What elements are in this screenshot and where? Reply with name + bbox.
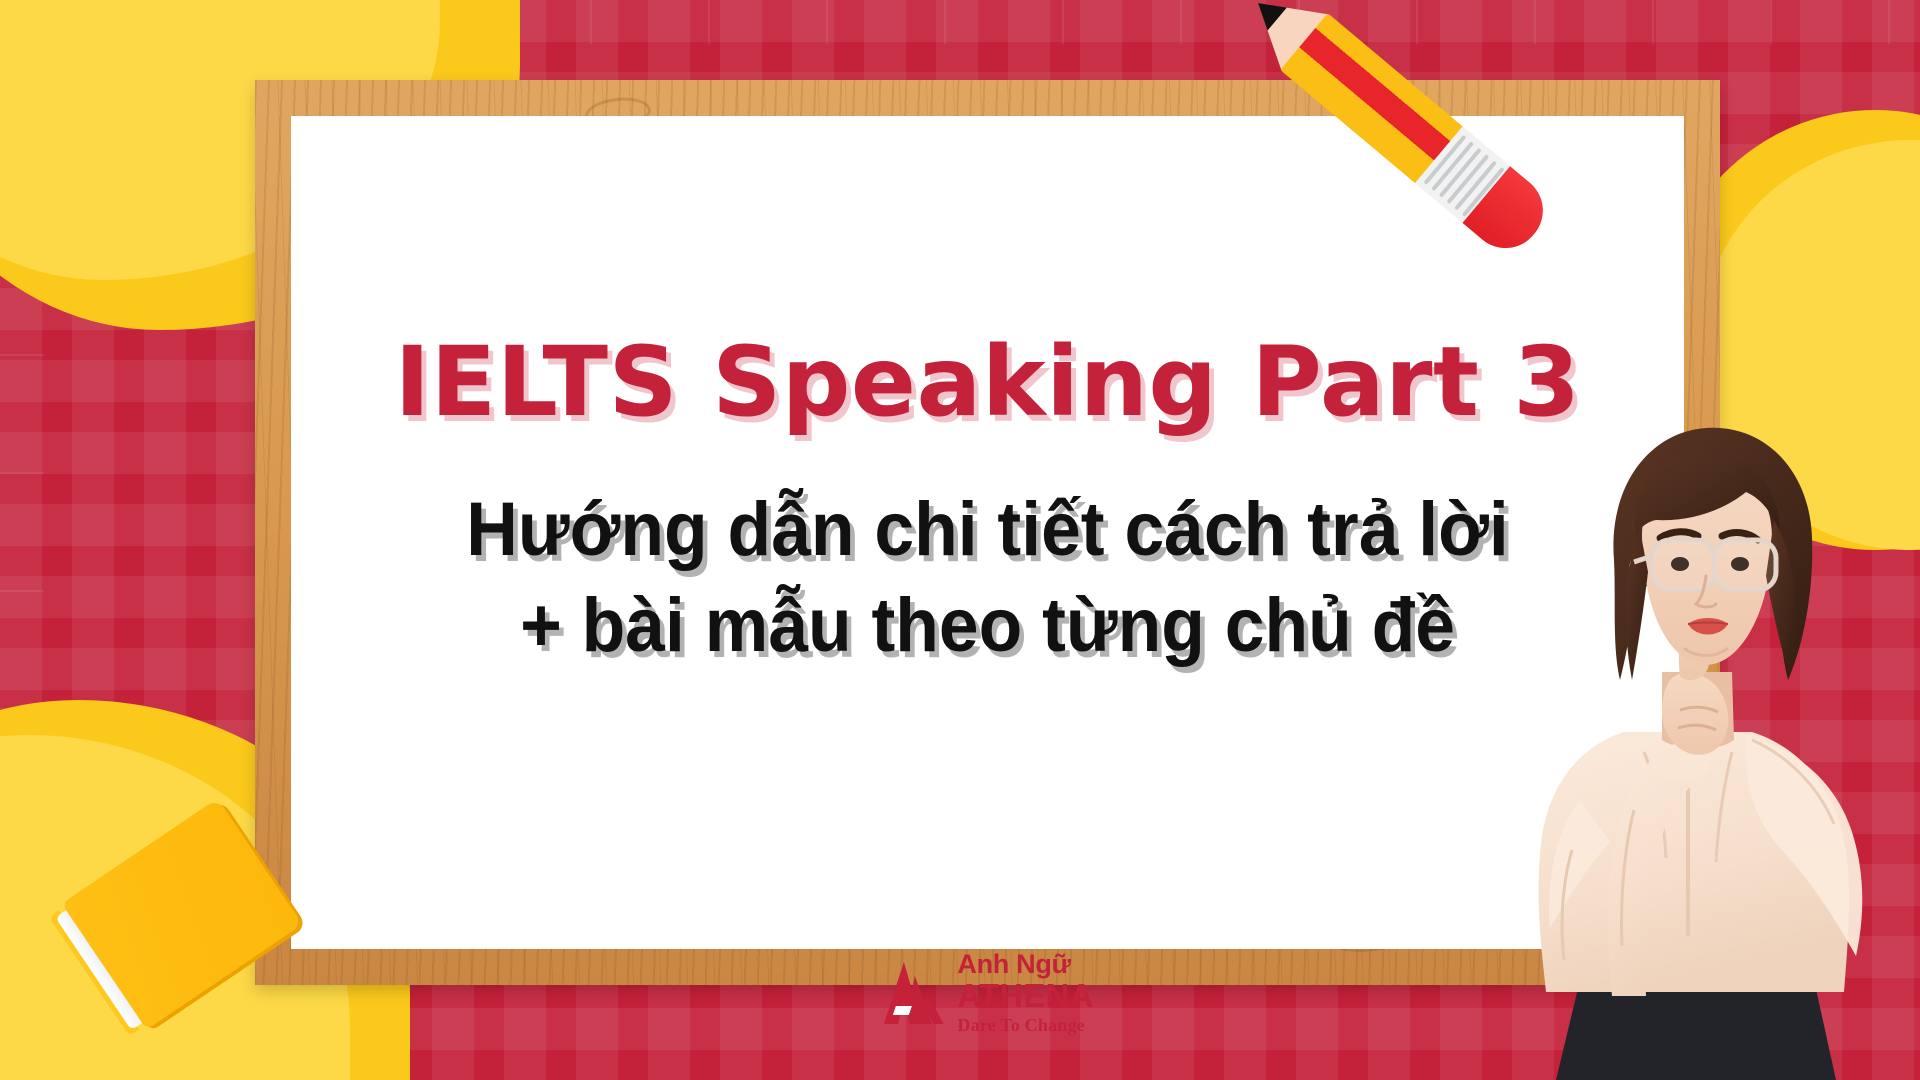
poster-stage: IELTS Speaking Part 3 Hướng dẫn chi tiết…: [0, 0, 1920, 1080]
logo-line-2: ATHENA: [957, 979, 1093, 1012]
teacher-portrait-illustration: [1484, 380, 1914, 1080]
teacher-portrait: [1484, 380, 1914, 1080]
logo-line-1: Anh Ngữ: [957, 951, 1093, 978]
subtitle-line-2: + bài mẫu theo từng chủ đề: [466, 578, 1509, 674]
brand-logo: Anh Ngữ ATHENA Dare To Change: [881, 951, 1093, 1034]
subtitle-line-1: Hướng dẫn chi tiết cách trả lời: [466, 482, 1509, 578]
whiteboard-surface: IELTS Speaking Part 3 Hướng dẫn chi tiết…: [291, 116, 1684, 949]
logo-tagline: Dare To Change: [957, 1016, 1093, 1034]
athena-a-mark-icon: [881, 960, 945, 1026]
page-subtitle: Hướng dẫn chi tiết cách trả lời + bài mẫ…: [466, 482, 1509, 674]
page-title: IELTS Speaking Part 3: [394, 334, 1580, 430]
